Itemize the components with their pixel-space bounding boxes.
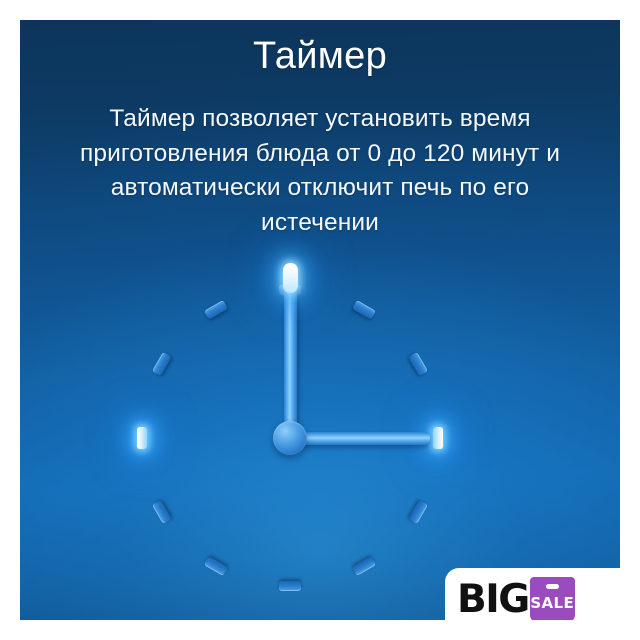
brand-logo: BIG SALE ТОВАРЫ ПО ЛУЧШИМ ЦЕНАМ: [445, 568, 620, 620]
clock-hour-marker-7: [204, 556, 228, 576]
clock-hour-marker-8: [152, 500, 172, 524]
clock-hour-marker-2: [408, 352, 428, 376]
clock-center-hub: [273, 421, 307, 455]
clock-hour-hand: [290, 432, 430, 445]
sale-badge-label: SALE: [530, 594, 574, 612]
clock-hour-marker-1: [352, 300, 376, 320]
clock-minute-hand: [284, 266, 297, 438]
poster-text-block: Таймер Таймер позволяет установить время…: [20, 36, 620, 241]
clock-hour-marker-3: [433, 427, 443, 449]
shopping-bag-icon: SALE: [530, 577, 575, 620]
clock-hour-marker-6: [279, 581, 301, 591]
clock-graphic: [110, 258, 470, 618]
bag-handle-icon: [546, 584, 559, 589]
brand-name: BIG: [457, 580, 529, 619]
clock-hour-marker-10: [152, 352, 172, 376]
clock-hour-marker-4: [408, 500, 428, 524]
poster-canvas: Таймер Таймер позволяет установить время…: [0, 0, 640, 640]
clock-hour-marker-9: [137, 427, 147, 449]
brand-logo-row: BIG SALE: [457, 577, 575, 620]
clock-hour-marker-5: [352, 556, 376, 576]
clock-hour-marker-11: [204, 300, 228, 320]
poster-background: Таймер Таймер позволяет установить время…: [20, 20, 620, 620]
page-title: Таймер: [20, 36, 620, 78]
poster-description: Таймер позволяет установить время пригот…: [20, 102, 620, 241]
